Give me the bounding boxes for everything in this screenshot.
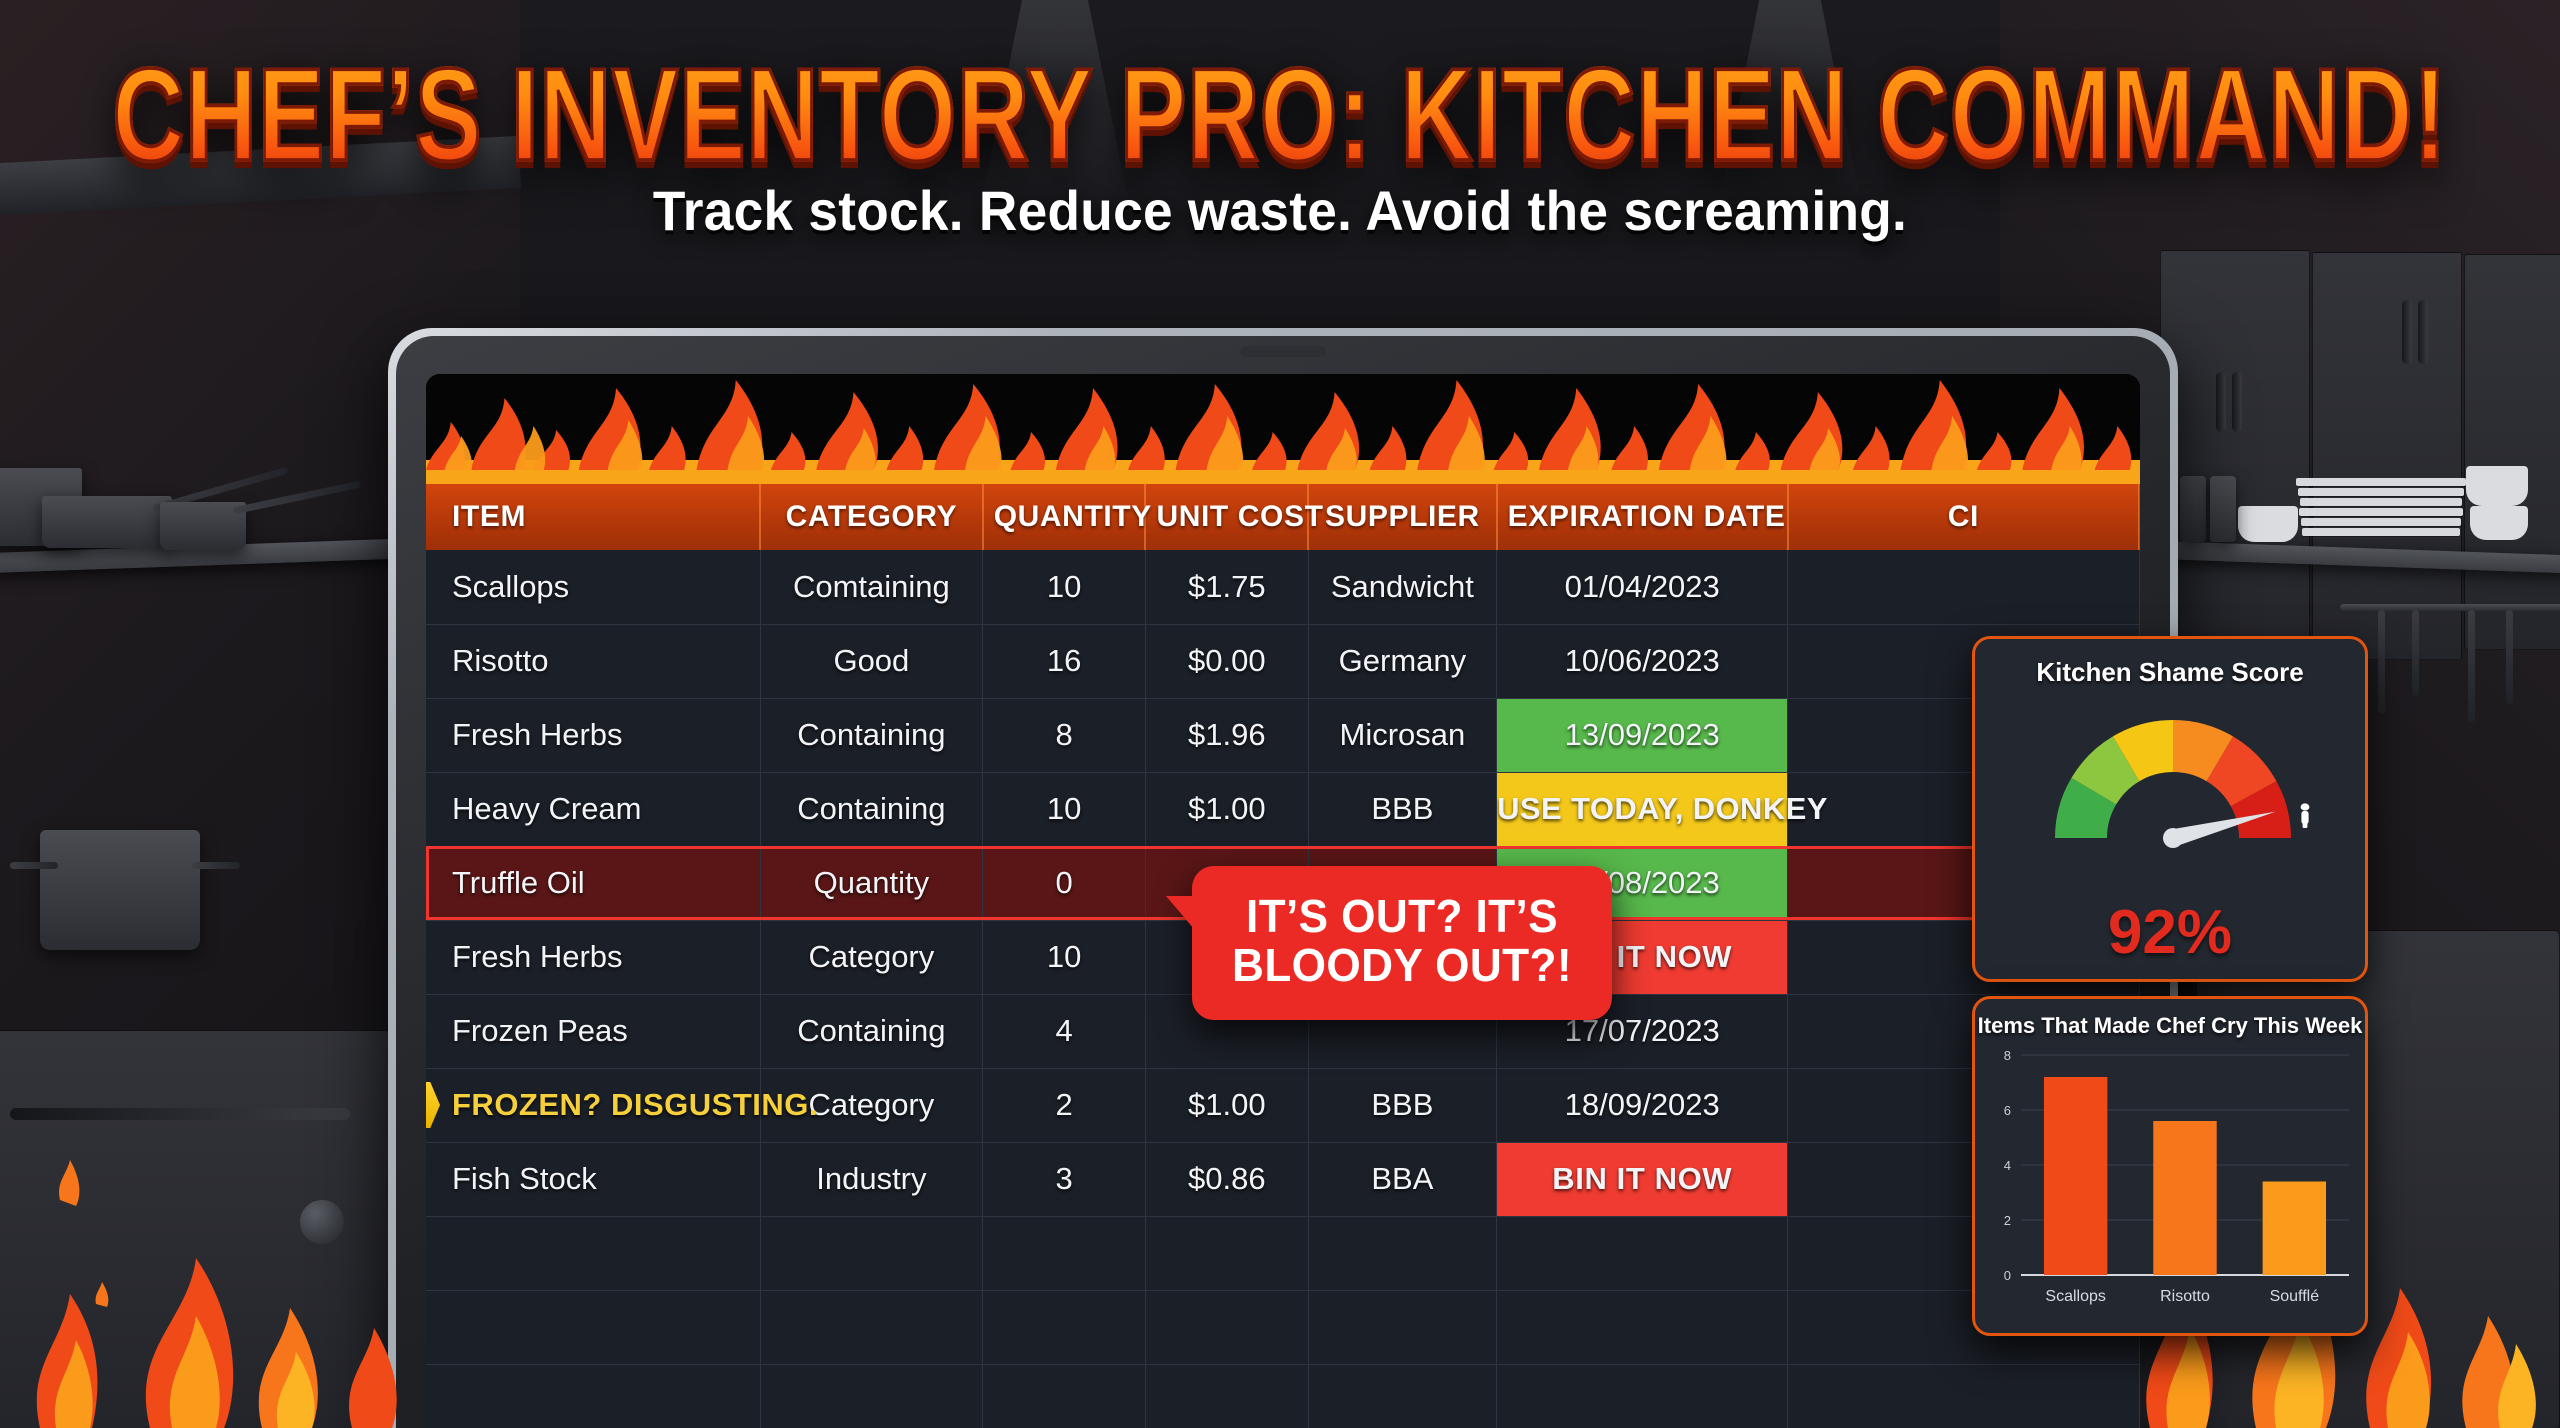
cell-ci[interactable] <box>1788 1364 2139 1428</box>
cell-expiration[interactable] <box>1497 1364 1788 1428</box>
pot-handle <box>10 862 58 869</box>
bar[interactable] <box>2153 1121 2216 1275</box>
y-axis-tick-label: 4 <box>2004 1158 2011 1173</box>
cell-supplier[interactable]: Microsan <box>1308 698 1496 772</box>
y-axis-tick-label: 0 <box>2004 1268 2011 1283</box>
page-title: CHEF’S INVENTORY PRO: KITCHEN COMMAND! <box>102 38 2457 191</box>
cell-unit_cost[interactable]: $0.86 <box>1145 1142 1308 1216</box>
table-row[interactable]: Heavy CreamContaining10$1.00BBBUSE TODAY… <box>426 772 2139 846</box>
camera-icon <box>1240 346 1326 357</box>
cell-category[interactable]: Containing <box>760 698 983 772</box>
cell-item[interactable] <box>426 1216 760 1290</box>
cell-category[interactable] <box>760 1364 983 1428</box>
gauge-chart <box>1975 688 2371 898</box>
cell-expiration[interactable]: 18/09/2023 <box>1497 1068 1788 1142</box>
cell-quantity[interactable]: 3 <box>983 1142 1146 1216</box>
cell-quantity[interactable]: 0 <box>983 846 1146 920</box>
cell-unit_cost[interactable]: $0.00 <box>1145 624 1308 698</box>
cell-category[interactable]: Containing <box>760 994 983 1068</box>
cell-expiration[interactable]: USE TODAY, DONKEY <box>1497 772 1788 846</box>
cell-quantity[interactable]: 2 <box>983 1068 1146 1142</box>
gauge-value: 92% <box>1975 897 2365 968</box>
cell-item[interactable]: Fish Stock <box>426 1142 760 1216</box>
bar-chart: 02468 ScallopsRisottoSoufflé <box>1975 1039 2371 1331</box>
callout-line-2: BLOODY OUT?! <box>1222 941 1583 990</box>
cell-quantity[interactable]: 10 <box>983 772 1146 846</box>
cell-quantity[interactable] <box>983 1216 1146 1290</box>
cell-item[interactable] <box>426 1290 760 1364</box>
cell-category[interactable]: Industry <box>760 1142 983 1216</box>
hanging-utensil <box>2468 610 2475 722</box>
cell-item[interactable]: FROZEN? DISGUSTING. <box>426 1068 760 1142</box>
cell-expiration[interactable]: 10/06/2023 <box>1497 624 1788 698</box>
flag-icon[interactable] <box>426 1082 440 1128</box>
cell-quantity[interactable]: 10 <box>983 920 1146 994</box>
flame-banner <box>426 374 2140 484</box>
cell-category[interactable]: Quantity <box>760 846 983 920</box>
hanging-utensil <box>2412 610 2419 696</box>
utensil-rail <box>2340 604 2560 611</box>
chef-cry-items-card: Items That Made Chef Cry This Week 02468… <box>1972 996 2368 1336</box>
cell-unit_cost[interactable]: $1.96 <box>1145 698 1308 772</box>
cell-unit_cost[interactable]: $1.00 <box>1145 772 1308 846</box>
cell-item[interactable]: Heavy Cream <box>426 772 760 846</box>
cell-expiration[interactable] <box>1497 1290 1788 1364</box>
callout-line-1: IT’S OUT? IT’S <box>1222 892 1583 941</box>
cell-category[interactable]: Category <box>760 920 983 994</box>
page-subtitle: Track stock. Reduce waste. Avoid the scr… <box>64 178 2496 243</box>
column-header-expiration-date[interactable]: EXPIRATION DATE <box>1497 484 1788 550</box>
cell-supplier[interactable]: Germany <box>1308 624 1496 698</box>
cell-quantity[interactable]: 10 <box>983 550 1146 624</box>
cabinet-handle <box>2418 300 2428 364</box>
table-row[interactable] <box>426 1216 2139 1290</box>
table-row[interactable]: Fresh HerbsContaining8$1.96Microsan13/09… <box>426 698 2139 772</box>
cell-item[interactable]: Scallops <box>426 550 760 624</box>
column-header-ci[interactable]: CI <box>1788 484 2139 550</box>
table-row[interactable] <box>426 1290 2139 1364</box>
cell-supplier[interactable] <box>1308 1290 1496 1364</box>
column-header-unit-cost[interactable]: UNIT COST <box>1145 484 1308 550</box>
cell-item[interactable]: Fresh Herbs <box>426 698 760 772</box>
column-header-category[interactable]: CATEGORY <box>760 484 983 550</box>
column-header-quantity[interactable]: QUANTITY <box>983 484 1146 550</box>
table-row[interactable]: FROZEN? DISGUSTING.Category2$1.00BBB18/0… <box>426 1068 2139 1142</box>
cell-quantity[interactable] <box>983 1364 1146 1428</box>
chef-marker-icon <box>2301 803 2310 828</box>
poster-stage: CHEF’S INVENTORY PRO: KITCHEN COMMAND! T… <box>0 0 2560 1428</box>
cell-item[interactable]: Risotto <box>426 624 760 698</box>
gauge-hub <box>2163 828 2183 848</box>
cell-expiration[interactable]: 13/09/2023 <box>1497 698 1788 772</box>
saute-pan <box>42 496 172 548</box>
hanging-utensil <box>2378 610 2385 714</box>
y-axis-tick-label: 6 <box>2004 1103 2011 1118</box>
cell-category[interactable]: Comtaining <box>760 550 983 624</box>
gauge-title: Kitchen Shame Score <box>1975 639 2365 688</box>
callout-bubble: IT’S OUT? IT’S BLOODY OUT?! <box>1192 866 1612 1020</box>
bar-chart-title: Items That Made Chef Cry This Week <box>1975 999 2365 1039</box>
column-header-supplier[interactable]: SUPPLIER <box>1308 484 1496 550</box>
cell-quantity[interactable] <box>983 1290 1146 1364</box>
cell-ci[interactable] <box>1788 550 2139 624</box>
kitchen-shame-score-card: Kitchen Shame Score 92% <box>1972 636 2368 982</box>
bowl <box>2470 506 2528 540</box>
y-axis-tick-label: 2 <box>2004 1213 2011 1228</box>
flag-label: FROZEN? DISGUSTING. <box>452 1087 818 1122</box>
cell-unit_cost[interactable]: $1.75 <box>1145 550 1308 624</box>
table-row[interactable]: Fish StockIndustry3$0.86BBABIN IT NOW <box>426 1142 2139 1216</box>
upper-cabinet <box>2464 254 2560 650</box>
cell-category[interactable]: Containing <box>760 772 983 846</box>
x-axis-category-label: Risotto <box>2160 1288 2210 1305</box>
cell-expiration[interactable] <box>1497 1216 1788 1290</box>
stock-pot <box>40 830 200 950</box>
hanging-utensil <box>2506 610 2513 704</box>
cabinet-handle <box>2402 300 2412 364</box>
column-header-item[interactable]: ITEM <box>426 484 760 550</box>
salt-mill <box>2210 476 2236 542</box>
cell-supplier[interactable]: Sandwicht <box>1308 550 1496 624</box>
cell-item[interactable]: Frozen Peas <box>426 994 760 1068</box>
cell-unit_cost[interactable] <box>1145 1290 1308 1364</box>
x-axis-category-label: Scallops <box>2045 1288 2105 1305</box>
cell-expiration[interactable]: BIN IT NOW <box>1497 1142 1788 1216</box>
cell-category[interactable] <box>760 1290 983 1364</box>
cell-supplier[interactable] <box>1308 1364 1496 1428</box>
upper-cabinet <box>2160 250 2310 670</box>
cell-supplier[interactable]: BBA <box>1308 1142 1496 1216</box>
cell-item[interactable]: Truffle Oil <box>426 846 760 920</box>
bar[interactable] <box>2263 1182 2326 1276</box>
cell-unit_cost[interactable]: $1.00 <box>1145 1068 1308 1142</box>
cell-quantity[interactable]: 8 <box>983 698 1146 772</box>
upper-cabinet <box>2312 252 2462 660</box>
y-axis-tick-label: 8 <box>2004 1048 2011 1063</box>
cell-category[interactable] <box>760 1216 983 1290</box>
cell-supplier[interactable] <box>1308 1216 1496 1290</box>
pepper-mill <box>2180 476 2206 542</box>
x-axis-category-label: Soufflé <box>2270 1288 2320 1305</box>
cell-quantity[interactable]: 16 <box>983 624 1146 698</box>
bowl <box>2466 466 2528 506</box>
cell-unit_cost[interactable] <box>1145 1216 1308 1290</box>
oven-knob <box>300 1200 344 1244</box>
table-row[interactable] <box>426 1364 2139 1428</box>
flame-banner-svg <box>426 374 2140 484</box>
cell-supplier[interactable]: BBB <box>1308 772 1496 846</box>
table-row[interactable]: ScallopsComtaining10$1.75Sandwicht01/04/… <box>426 550 2139 624</box>
cell-expiration[interactable]: 01/04/2023 <box>1497 550 1788 624</box>
cell-item[interactable]: Fresh Herbs <box>426 920 760 994</box>
pot-handle <box>192 862 240 869</box>
bar[interactable] <box>2044 1077 2107 1275</box>
cell-quantity[interactable]: 4 <box>983 994 1146 1068</box>
table-row[interactable]: RisottoGood16$0.00Germany10/06/2023 <box>426 624 2139 698</box>
table-header-row: ITEMCATEGORYQUANTITYUNIT COSTSUPPLIEREXP… <box>426 484 2139 550</box>
cell-item[interactable] <box>426 1364 760 1428</box>
bowl <box>2238 506 2298 542</box>
plate-stack <box>2296 478 2466 542</box>
cabinet-handle <box>2232 372 2242 432</box>
cell-supplier[interactable]: BBB <box>1308 1068 1496 1142</box>
oven-handle <box>10 1108 350 1120</box>
cell-category[interactable]: Good <box>760 624 983 698</box>
cabinet-handle <box>2216 372 2226 432</box>
cell-unit_cost[interactable] <box>1145 1364 1308 1428</box>
